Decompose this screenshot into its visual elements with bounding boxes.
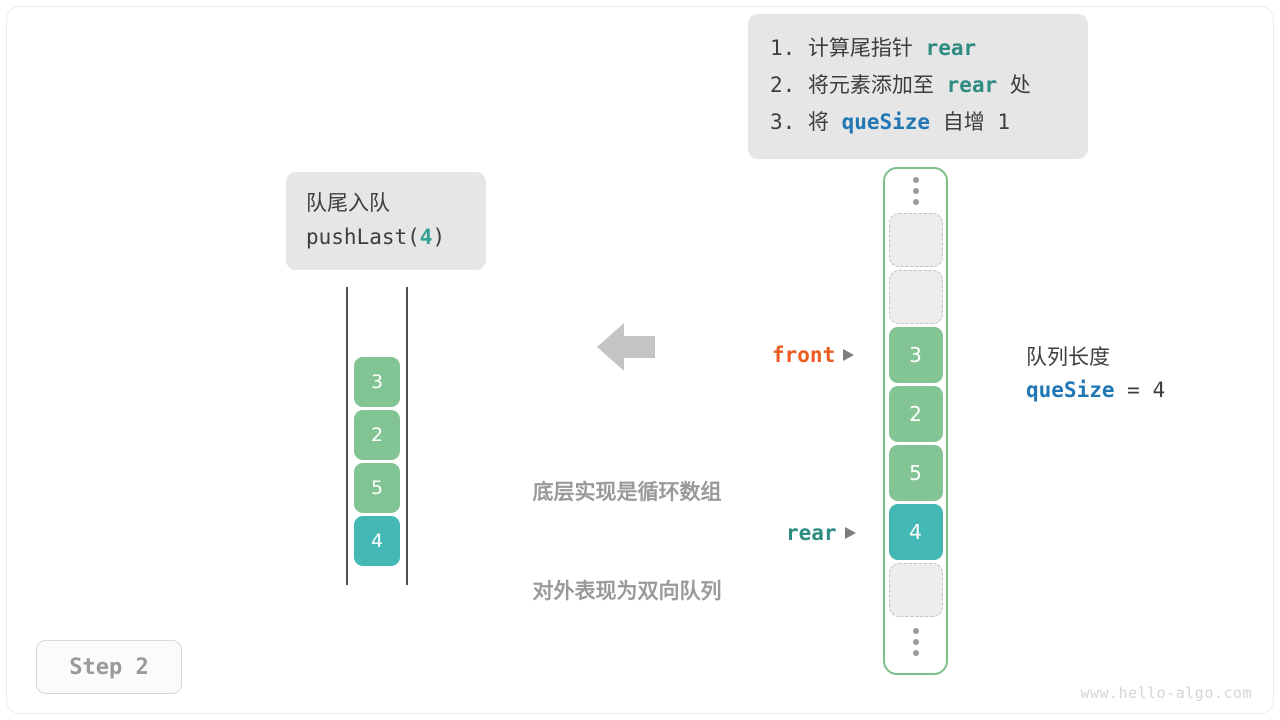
instruction-line-1: 1. 计算尾指针 rear — [770, 30, 1066, 67]
instruction-2-suffix: 处 — [997, 73, 1031, 97]
deque-cell: 3 — [354, 357, 400, 407]
center-note: 底层实现是循环数组 对外表现为双向队列 — [494, 410, 760, 674]
instruction-1-prefix: 1. 计算尾指针 — [770, 36, 926, 60]
left-arrow-icon — [597, 322, 655, 372]
array-slot-empty — [889, 270, 943, 324]
circular-array: 3 2 5 4 — [883, 167, 948, 675]
rear-pointer-text: rear — [786, 521, 837, 545]
queue-size-equals: = 4 — [1115, 378, 1166, 402]
instruction-1-code: rear — [926, 36, 977, 60]
center-note-line-2: 对外表现为双向队列 — [494, 575, 760, 608]
instruction-3-code: queSize — [842, 110, 931, 134]
ellipsis-bottom-icon — [913, 620, 919, 664]
operation-box: 队尾入队 pushLast(4) — [286, 172, 486, 270]
queue-size-var: queSize — [1026, 378, 1115, 402]
instruction-2-code: rear — [947, 73, 998, 97]
step-badge: Step 2 — [36, 640, 182, 694]
logical-deque-cells: 3 2 5 4 — [354, 357, 400, 569]
instruction-box: 1. 计算尾指针 rear 2. 将元素添加至 rear 处 3. 将 queS… — [748, 14, 1088, 159]
front-pointer-text: front — [772, 343, 835, 367]
arrow-right-icon — [843, 349, 854, 361]
array-slot-filled: 4 — [889, 504, 943, 560]
queue-size-value: queSize = 4 — [1026, 373, 1165, 407]
deque-cell: 4 — [354, 516, 400, 566]
logical-deque: 3 2 5 4 — [346, 287, 408, 585]
operation-call: pushLast(4) — [306, 220, 466, 254]
rear-pointer-label: rear — [786, 521, 856, 545]
ellipsis-top-icon — [913, 169, 919, 213]
array-slot-empty — [889, 213, 943, 267]
array-slot-filled: 3 — [889, 327, 943, 383]
array-slot-filled: 2 — [889, 386, 943, 442]
diagram-canvas: 1. 计算尾指针 rear 2. 将元素添加至 rear 处 3. 将 queS… — [0, 0, 1280, 720]
watermark: www.hello-algo.com — [1080, 684, 1252, 702]
operation-call-value: 4 — [420, 225, 433, 249]
arrow-right-icon — [845, 527, 856, 539]
instruction-3-suffix: 自增 1 — [930, 110, 1010, 134]
queue-size-note: 队列长度 queSize = 4 — [1026, 341, 1165, 407]
instruction-line-2: 2. 将元素添加至 rear 处 — [770, 67, 1066, 104]
operation-title: 队尾入队 — [306, 186, 466, 220]
deque-cell: 5 — [354, 463, 400, 513]
array-slot-filled: 5 — [889, 445, 943, 501]
front-pointer-label: front — [772, 343, 854, 367]
deque-rail-right — [406, 287, 408, 585]
deque-rail-left — [346, 287, 348, 585]
instruction-3-prefix: 3. 将 — [770, 110, 842, 134]
operation-call-prefix: pushLast( — [306, 225, 420, 249]
queue-size-title: 队列长度 — [1026, 341, 1165, 373]
center-note-line-1: 底层实现是循环数组 — [494, 476, 760, 509]
deque-cell: 2 — [354, 410, 400, 460]
instruction-2-prefix: 2. 将元素添加至 — [770, 73, 947, 97]
array-slot-empty — [889, 563, 943, 617]
operation-call-suffix: ) — [432, 225, 445, 249]
instruction-line-3: 3. 将 queSize 自增 1 — [770, 104, 1066, 141]
